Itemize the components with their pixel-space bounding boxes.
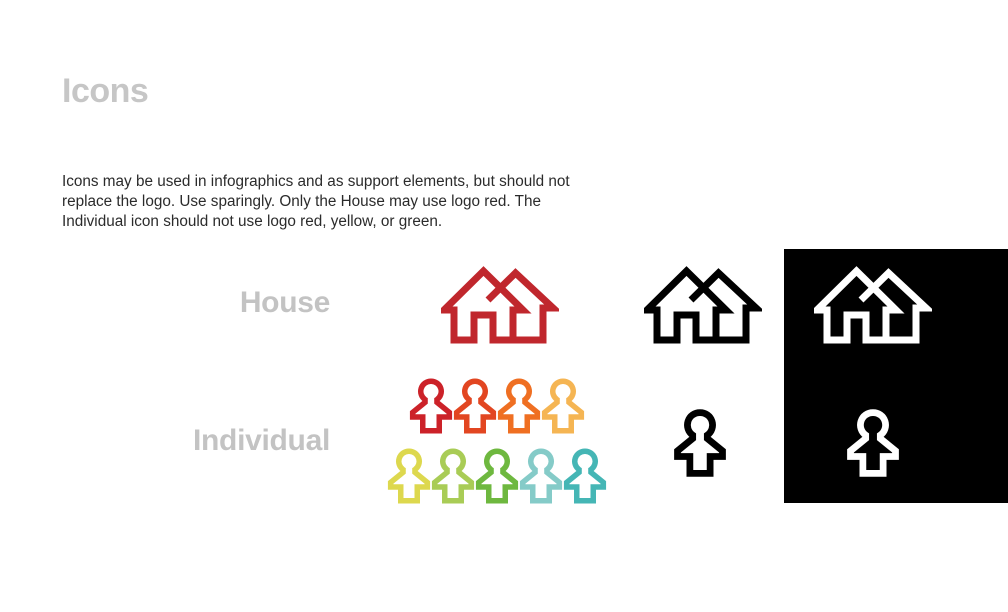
individual-icon-cool-5 [563,445,607,507]
individual-icon-black [673,408,727,478]
individual-icon-warm-4 [541,375,585,437]
individual-icon-cool-2 [431,445,475,507]
house-icon-white [814,258,932,344]
individual-icon-cool-group [387,445,607,507]
individual-icon-cool-4 [519,445,563,507]
individual-icon-cool-3 [475,445,519,507]
row-label-house: House [50,288,330,318]
individual-icon-cool-1 [387,445,431,507]
individual-icon-white [846,408,900,478]
individual-icon-warm-1 [409,375,453,437]
intro-paragraph: Icons may be used in infographics and as… [62,172,607,231]
house-icon-black [644,258,762,344]
row-label-individual: Individual [50,426,330,456]
house-icon-red [441,258,559,344]
individual-icon-warm-3 [497,375,541,437]
individual-icon-warm-2 [453,375,497,437]
individual-icon-warm-group [409,375,585,437]
page-title: Icons [62,74,148,108]
